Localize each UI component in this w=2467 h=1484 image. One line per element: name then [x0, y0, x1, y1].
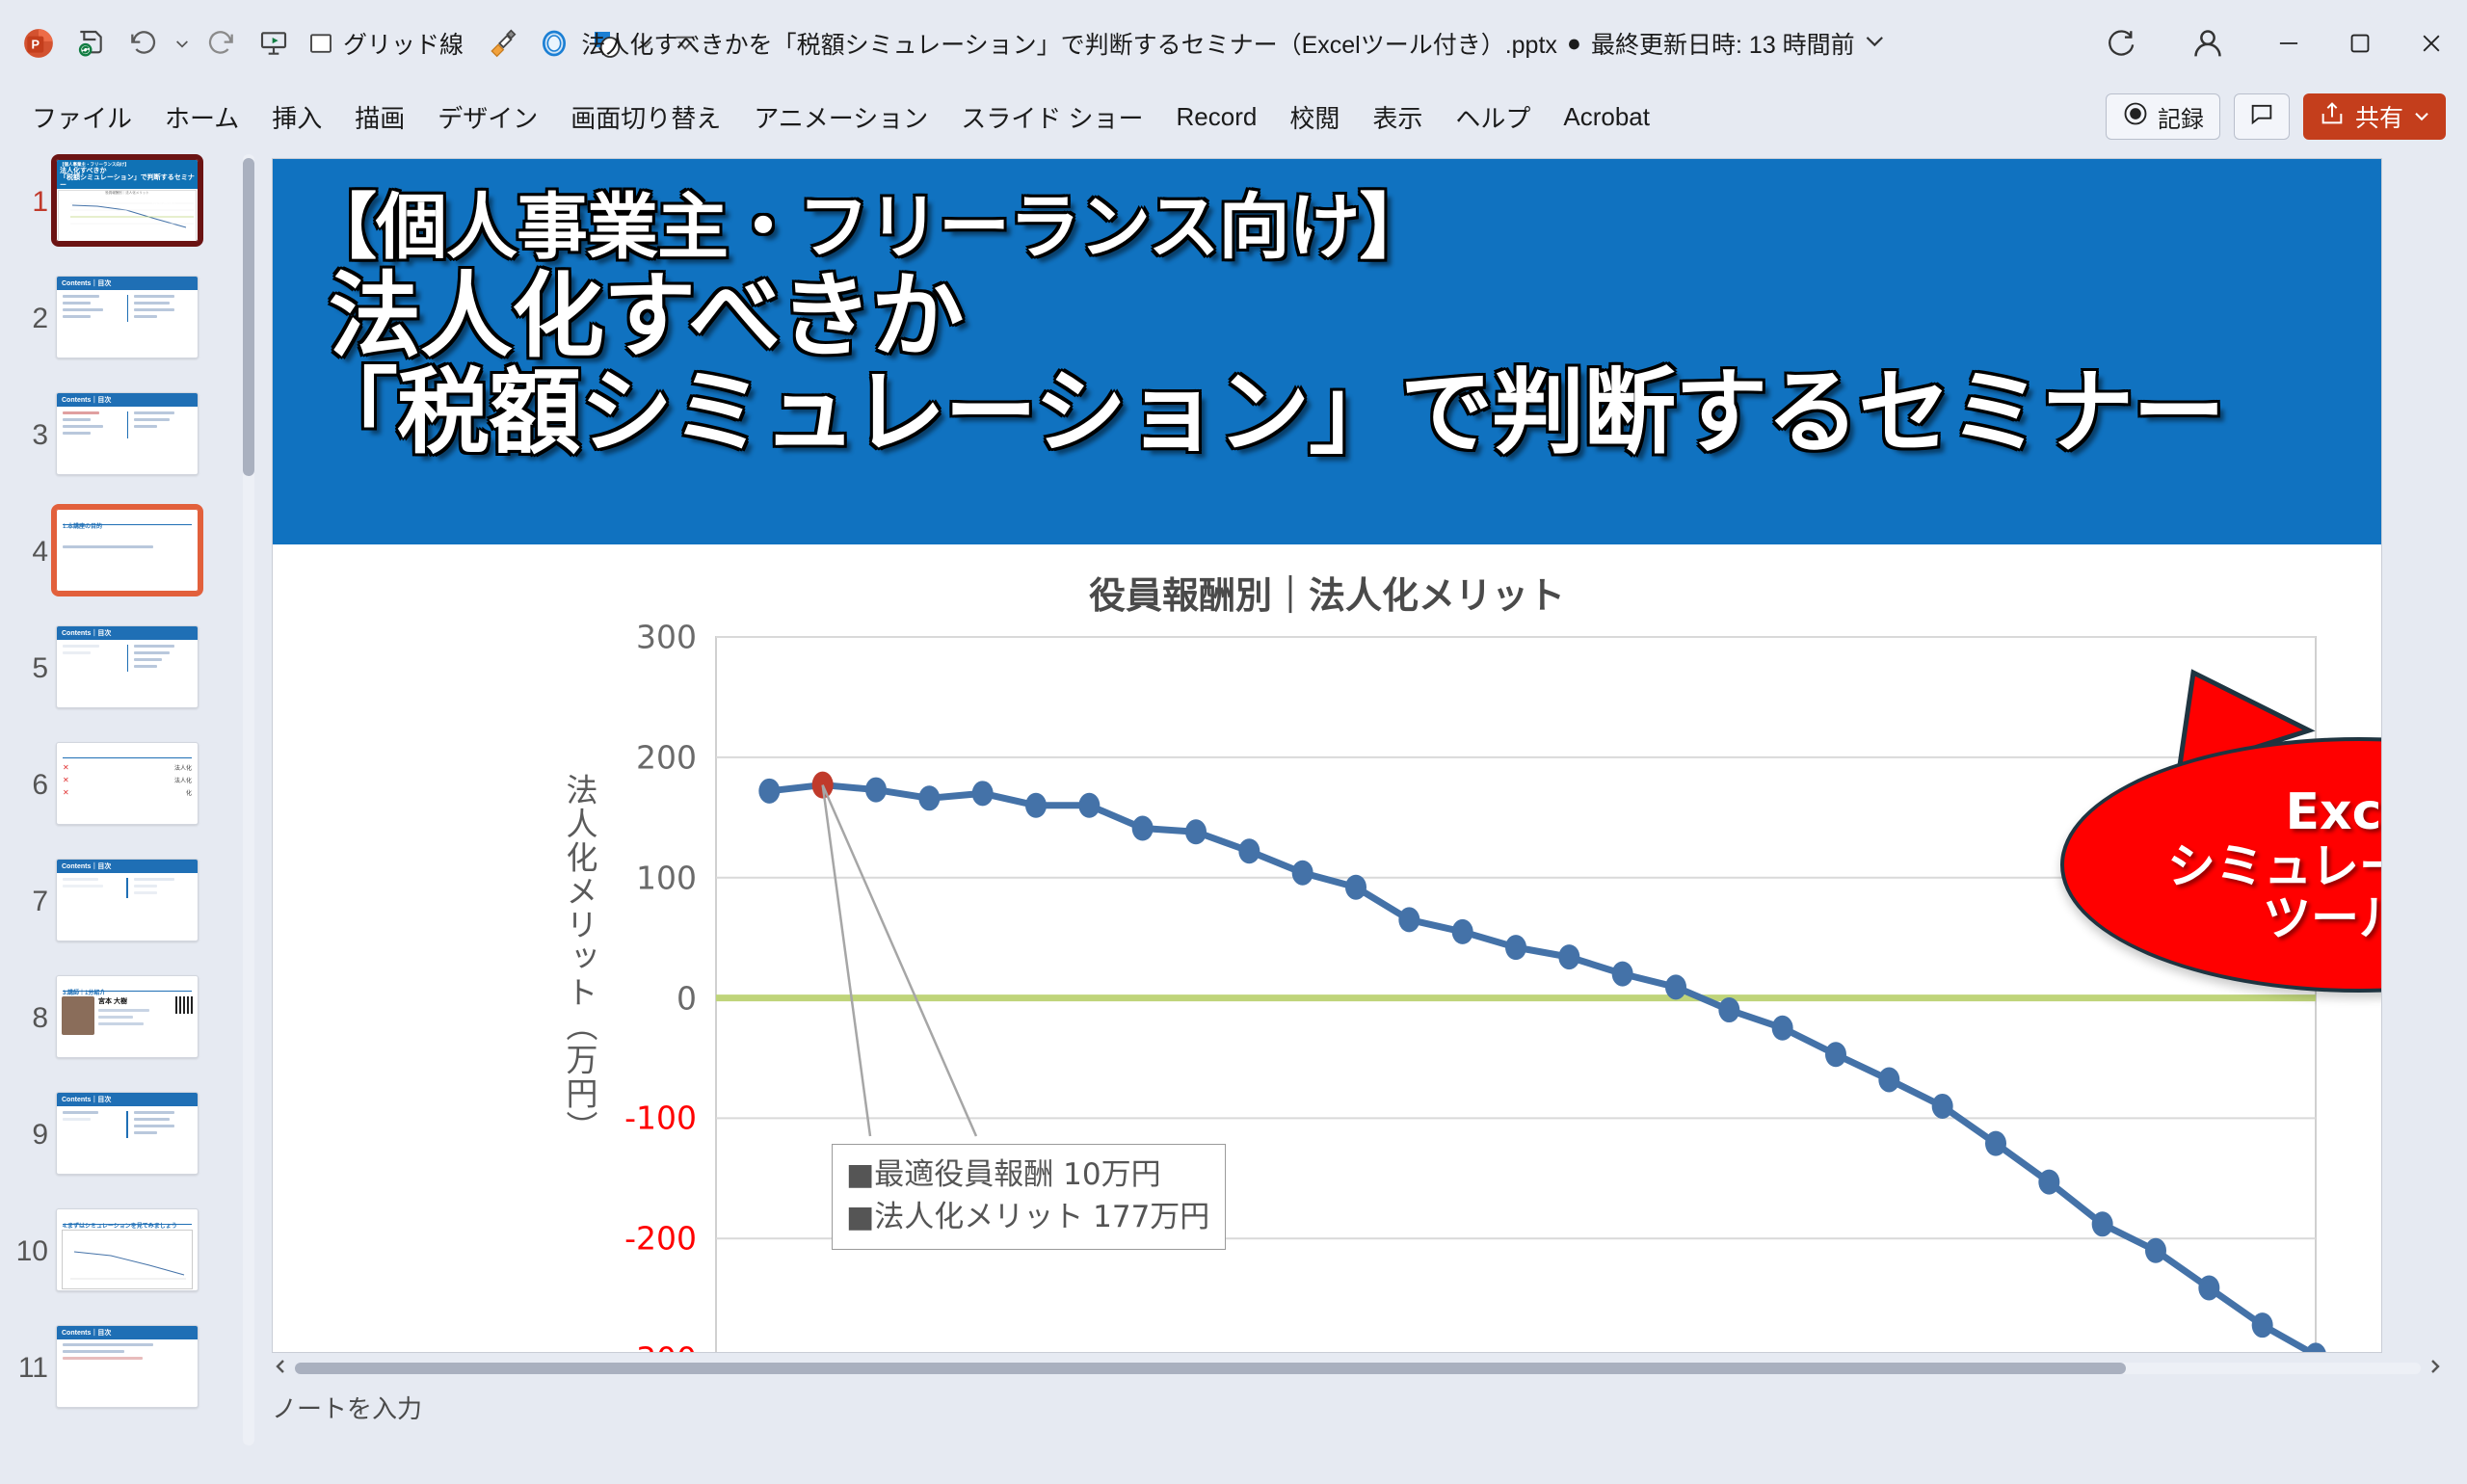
scroll-left-arrow-icon[interactable]	[272, 1358, 289, 1380]
slide-thumbnail-4[interactable]: 4 1.本講座の目的	[0, 502, 258, 619]
minimize-button[interactable]	[2253, 0, 2324, 87]
tab-draw[interactable]: 描画	[338, 93, 421, 142]
thumbnail-preview[interactable]: 【個人事業主・フリーランス向け】 法人化すべきか 「税額シミュレーション」で判断…	[56, 159, 199, 242]
share-button[interactable]: 共有	[2303, 93, 2446, 140]
share-icon	[2319, 100, 2346, 134]
excel-tool-callout-bubble[interactable]: Excel シミュレーション ツール付	[2060, 737, 2382, 993]
thumbnail-slide4-header: 1.本講座の目的	[63, 524, 102, 530]
tab-file[interactable]: ファイル	[15, 93, 148, 142]
thumbnail-preview[interactable]: Contents｜目次	[56, 625, 199, 708]
maximize-button[interactable]	[2324, 0, 2396, 87]
thumbnail-contents-header: Contents｜目次	[57, 1093, 198, 1106]
thumbnail-preview[interactable]: 3.講師｜1分紹介 宮本 大樹	[56, 975, 199, 1058]
tab-insert[interactable]: 挿入	[255, 93, 338, 142]
slide-headline-3: 「税額シミュレーション」で判断するセミナー	[305, 366, 2381, 459]
close-button[interactable]	[2396, 0, 2467, 87]
ribbon-tab-bar: ファイル ホーム 挿入 描画 デザイン 画面切り替え アニメーション スライド …	[0, 87, 2467, 146]
slide-thumbnail-3[interactable]: 3 Contents｜目次	[0, 385, 258, 502]
slide-horizontal-scrollbar[interactable]	[272, 1359, 2444, 1378]
slide-thumbnail-11[interactable]: 11 Contents｜目次	[0, 1318, 258, 1435]
tab-transitions[interactable]: 画面切り替え	[554, 93, 737, 142]
thumbnail-scrollbar[interactable]	[243, 154, 254, 1445]
thumbnail-preview[interactable]: 1.本講座の目的	[56, 509, 199, 592]
thumbnail-preview[interactable]: 4.まずはシミュレーションを見てみましょう	[56, 1208, 199, 1291]
slide-thumbnail-1[interactable]: 1 【個人事業主・フリーランス向け】 法人化すべきか 「税額シミュレーション」で…	[0, 152, 258, 269]
record-button[interactable]: 記録	[2106, 93, 2220, 140]
thumbnail-preview[interactable]: Contents｜目次	[56, 1092, 199, 1175]
comments-button[interactable]	[2234, 93, 2290, 140]
slide-thumbnail-9[interactable]: 9 Contents｜目次	[0, 1085, 258, 1202]
thumbnail-number: 6	[8, 742, 48, 802]
slide-thumbnail-10[interactable]: 10 4.まずはシミュレーションを見てみましょう	[0, 1202, 258, 1318]
slide-thumbnail-5[interactable]: 5 Contents｜目次	[0, 619, 258, 735]
thumbnail-number: 1	[8, 159, 48, 219]
thumbnail-preview[interactable]: ✕法人化 ✕法人化 ✕化	[56, 742, 199, 825]
slide-thumbnail-panel[interactable]: 1 【個人事業主・フリーランス向け】 法人化すべきか 「税額シミュレーション」で…	[0, 146, 258, 1484]
powerpoint-logo-icon: P	[13, 18, 64, 68]
bubble-line-3: ツール付	[2263, 892, 2382, 944]
annotation-line-1: ■最適役員報酬 10万円	[846, 1153, 1209, 1196]
record-label: 記録	[2158, 100, 2204, 134]
share-label: 共有	[2355, 99, 2403, 134]
thumbnail-preview[interactable]: Contents｜目次	[56, 859, 199, 941]
thumbnail-number: 5	[8, 625, 48, 685]
ribbon-actions: 記録 共有	[2106, 93, 2467, 140]
slide-thumbnail-8[interactable]: 8 3.講師｜1分紹介 宮本 大樹	[0, 968, 258, 1085]
slide-headline-1: 【個人事業主・フリーランス向け】	[305, 192, 2381, 264]
instructor-name: 宮本 大樹	[98, 996, 172, 1006]
tab-view[interactable]: 表示	[1356, 93, 1439, 142]
bubble-body: Excel シミュレーション ツール付	[2060, 737, 2382, 993]
document-title-area[interactable]: 法人化すべきかを「税額シミュレーション」で判断するセミナー（Excelツール付き…	[581, 26, 1885, 61]
gridline-toggle-button[interactable]: グリッド線	[301, 18, 475, 68]
tab-home[interactable]: ホーム	[148, 93, 255, 142]
slide-thumbnail-7[interactable]: 7 Contents｜目次	[0, 852, 258, 968]
slide-editing-pane: 【個人事業主・フリーランス向け】 法人化すべきか 「税額シミュレーション」で判断…	[258, 146, 2467, 1484]
tab-acrobat[interactable]: Acrobat	[1547, 95, 1666, 139]
undo-icon[interactable]	[118, 18, 168, 68]
scroll-track[interactable]	[295, 1363, 2421, 1374]
slide-title-block[interactable]: 【個人事業主・フリーランス向け】 法人化すべきか 「税額シミュレーション」で判断…	[273, 159, 2381, 544]
thumbnail-number: 10	[8, 1208, 48, 1268]
shape-fill-icon[interactable]	[529, 18, 579, 68]
thumbnail-number: 9	[8, 1092, 48, 1152]
tab-record[interactable]: Record	[1160, 95, 1274, 139]
share-chevron-down-icon[interactable]	[2413, 103, 2430, 131]
slide-thumbnail-6[interactable]: 6 ✕法人化 ✕法人化 ✕化	[0, 735, 258, 852]
thumbnail-number: 4	[8, 509, 48, 569]
notes-placeholder[interactable]: ノートを入力	[272, 1390, 422, 1425]
thumbnail-contents-header: Contents｜目次	[57, 277, 198, 290]
thumbnail-number: 3	[8, 392, 48, 452]
instructor-photo	[62, 996, 94, 1035]
thumbnail-number: 2	[8, 276, 48, 335]
slide-headline-2: 法人化すべきか	[305, 270, 2381, 362]
thumbnail-mini-chart	[62, 1230, 193, 1289]
chart-annotation-callout[interactable]: ■最適役員報酬 10万円 ■法人化メリット 177万円	[832, 1144, 1226, 1250]
scroll-knob[interactable]	[295, 1363, 2126, 1374]
current-slide[interactable]: 【個人事業主・フリーランス向け】 法人化すべきか 「税額シミュレーション」で判断…	[272, 158, 2382, 1353]
record-icon	[2122, 100, 2149, 134]
slide-thumbnail-2[interactable]: 2 Contents｜目次	[0, 269, 258, 385]
tab-animations[interactable]: アニメーション	[737, 93, 944, 142]
comment-icon	[2248, 100, 2275, 134]
thumbnail-number: 8	[8, 975, 48, 1035]
thumbnail-contents-header: Contents｜目次	[57, 860, 198, 873]
tab-design[interactable]: デザイン	[421, 93, 554, 142]
undo-dropdown-chevron-icon[interactable]	[170, 18, 195, 68]
title-chevron-down-icon[interactable]	[1865, 30, 1886, 58]
title-bar: P	[0, 0, 2467, 87]
document-title: 法人化すべきかを「税額シミュレーション」で判断するセミナー（Excelツール付き…	[581, 26, 1557, 61]
account-avatar[interactable]	[2178, 13, 2238, 73]
thumbnail-contents-header: Contents｜目次	[57, 393, 198, 407]
gridline-label: グリッド線	[341, 26, 469, 61]
last-modified-label: 最終更新日時: 13 時間前	[1591, 26, 1855, 61]
tab-help[interactable]: ヘルプ	[1439, 93, 1547, 142]
annotation-line-2: ■法人化メリット 177万円	[846, 1196, 1209, 1238]
thumbnail-contents-header: Contents｜目次	[57, 1326, 198, 1339]
thumbnail-scrollbar-knob[interactable]	[243, 158, 254, 476]
thumbnail-preview[interactable]: Contents｜目次	[56, 276, 199, 358]
save-icon[interactable]	[66, 18, 116, 68]
start-slideshow-icon[interactable]	[249, 18, 299, 68]
thumbnail-contents-header: Contents｜目次	[57, 626, 198, 640]
redo-icon[interactable]	[197, 18, 247, 68]
thumbnail-preview[interactable]: Contents｜目次	[56, 1325, 199, 1408]
search-refresh-icon[interactable]	[2095, 18, 2145, 68]
tab-review[interactable]: 校閲	[1273, 93, 1356, 142]
svg-text:P: P	[32, 37, 40, 51]
tab-slideshow[interactable]: スライド ショー	[944, 93, 1159, 142]
thumbnail-number: 7	[8, 859, 48, 918]
thumbnail-number: 11	[8, 1325, 48, 1385]
window-controls	[2095, 0, 2467, 87]
bubble-line-2: シミュレーション	[2167, 840, 2382, 892]
format-painter-icon[interactable]	[477, 18, 527, 68]
scroll-right-arrow-icon[interactable]	[2427, 1358, 2444, 1380]
thumbnail-preview[interactable]: Contents｜目次	[56, 392, 199, 475]
title-separator: ●	[1567, 30, 1581, 58]
bubble-line-1: Excel	[2286, 785, 2383, 839]
workspace: 1 【個人事業主・フリーランス向け】 法人化すべきか 「税額シミュレーション」で…	[0, 146, 2467, 1484]
